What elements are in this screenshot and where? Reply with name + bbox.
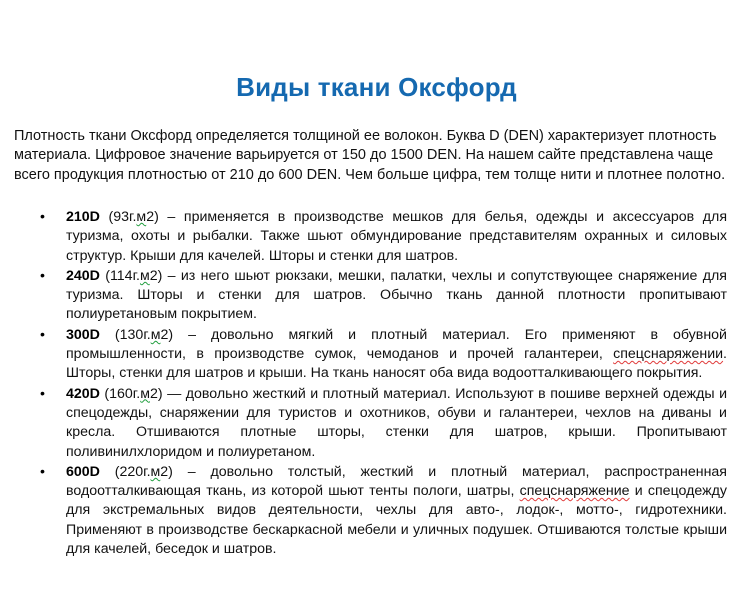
weight-spec: (93г.м2) — [109, 209, 159, 225]
weight-spec: (114г.м2) — [105, 268, 162, 284]
intro-paragraph: Плотность ткани Оксфорд определяется тол… — [14, 127, 736, 186]
list-item: • 210D (93г.м2) – применяется в производ… — [0, 208, 753, 266]
weight-suffix: 2) — [160, 327, 173, 343]
density-label: 240D — [66, 268, 100, 284]
bullet-marker: • — [40, 463, 50, 482]
weight-prefix: (160г. — [104, 386, 140, 402]
misspelled-word: спецснаряжение — [520, 483, 630, 499]
list-item: • 240D (114г.м2) – из него шьют рюкзаки,… — [0, 267, 753, 325]
spellcheck-flag: м — [151, 327, 161, 343]
bullet-marker: • — [40, 385, 50, 404]
list-item: • 420D (160г.м2) — довольно жесткий и пл… — [0, 385, 753, 462]
density-label: 600D — [66, 464, 100, 480]
spellcheck-flag: м — [136, 209, 146, 225]
list-item: • 600D (220г.м2) – довольно толстый, жес… — [0, 463, 753, 559]
page-title: Виды ткани Оксфорд — [0, 71, 753, 103]
dash: – — [188, 464, 196, 480]
spellcheck-flag: м — [140, 386, 150, 402]
bullet-marker: • — [40, 326, 50, 345]
density-label: 210D — [66, 209, 100, 225]
weight-prefix: (130г. — [115, 327, 151, 343]
weight-suffix: 2) — [160, 464, 173, 480]
dash: – — [188, 327, 196, 343]
weight-suffix: 2) — [150, 268, 163, 284]
weight-suffix: 2) — [146, 209, 159, 225]
spellcheck-flag: м — [140, 268, 150, 284]
density-label: 300D — [66, 327, 100, 343]
weight-spec: (220г.м2) — [115, 464, 173, 480]
dash: — — [167, 386, 181, 402]
fabric-density-list: • 210D (93г.м2) – применяется в производ… — [0, 208, 753, 560]
weight-prefix: (114г. — [105, 268, 140, 284]
dash: – — [168, 268, 176, 284]
weight-suffix: 2) — [150, 386, 163, 402]
spellcheck-flag: м — [151, 464, 161, 480]
bullet-marker: • — [40, 267, 50, 286]
density-label: 420D — [66, 386, 100, 402]
weight-prefix: (93г. — [109, 209, 137, 225]
document-page: Виды ткани Оксфорд Плотность ткани Оксфо… — [0, 0, 753, 609]
weight-spec: (130г.м2) — [115, 327, 173, 343]
weight-spec: (160г.м2) — [104, 386, 162, 402]
misspelled-word: спецснаряжении — [613, 346, 723, 362]
list-item: • 300D (130г.м2) – довольно мягкий и пло… — [0, 326, 753, 384]
weight-prefix: (220г. — [115, 464, 151, 480]
bullet-marker: • — [40, 208, 50, 227]
